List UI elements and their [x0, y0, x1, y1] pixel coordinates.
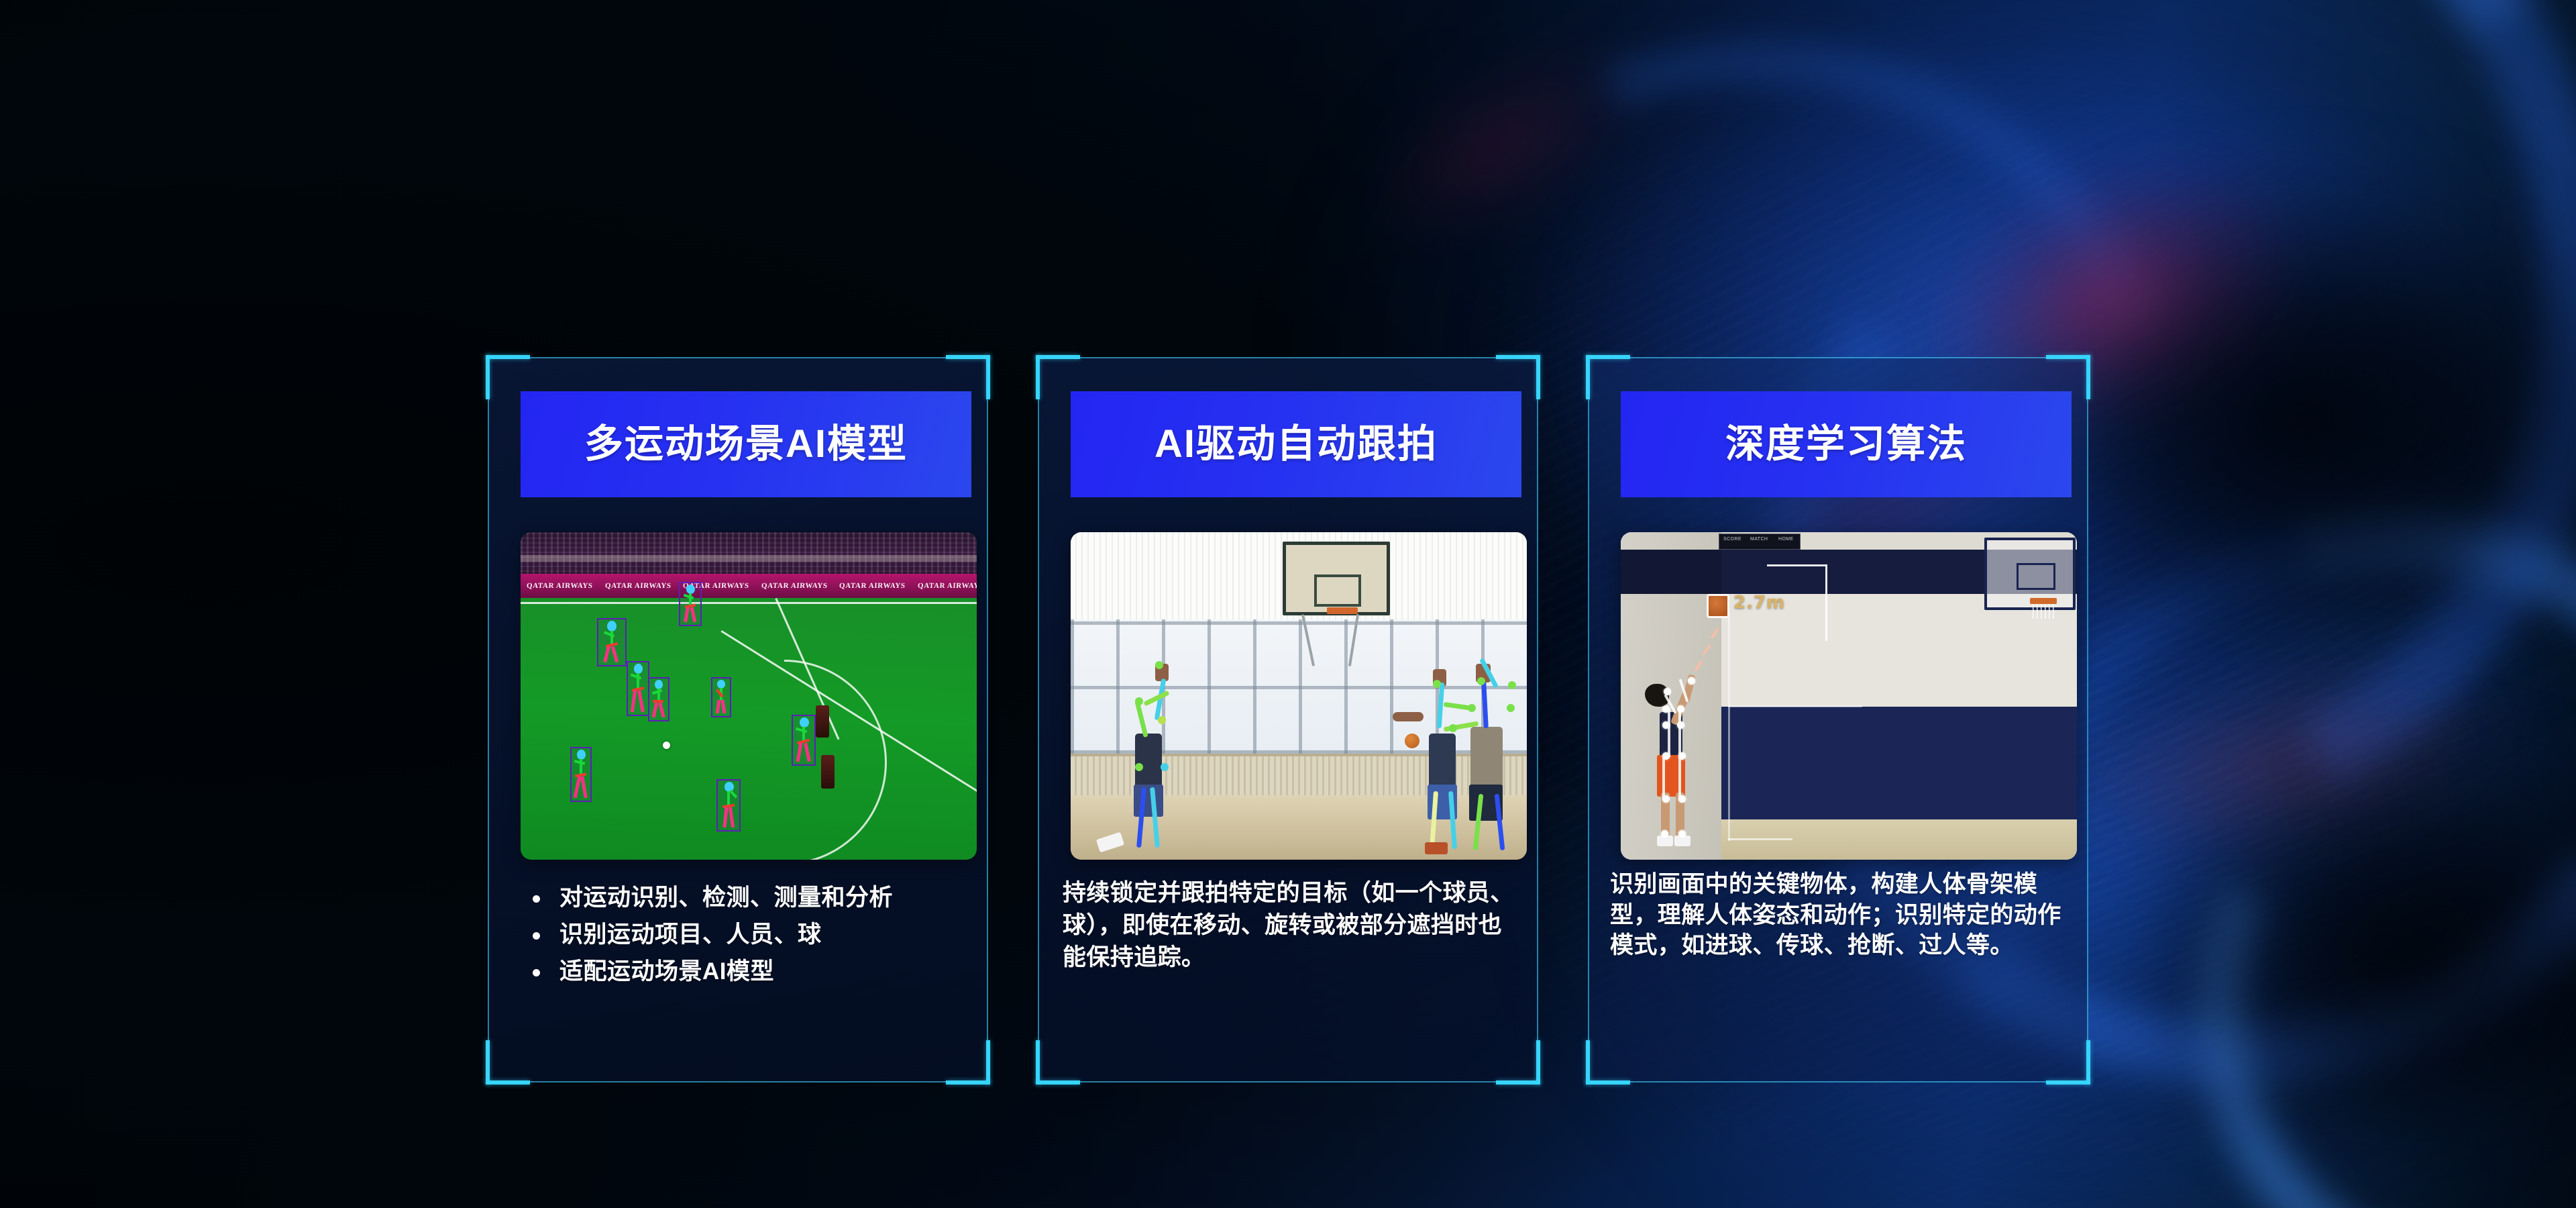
- card-3-corner-bottom-right-icon: [2046, 1040, 2090, 1085]
- feature-card-2[interactable]: AI驱动自动跟拍: [1033, 352, 1543, 1087]
- basketball: [1405, 734, 1419, 748]
- tracking-line-horizontal: [1767, 564, 1827, 566]
- court-navy-pad: [1721, 707, 2077, 819]
- player-bbox: [792, 715, 816, 766]
- player-bbox: [648, 677, 669, 721]
- card-1-edge-top: [488, 357, 987, 358]
- stadium-crowd: [521, 532, 977, 576]
- slide-root: 多运动场景AI模型 QATAR AIRWAYSQATAR AIRWAYSQATA…: [0, 0, 2576, 1208]
- scoreboard-label-home: HOME: [1778, 537, 1794, 542]
- card-2-corner-bottom-right-icon: [1496, 1040, 1540, 1085]
- pose-joint: [1508, 681, 1516, 689]
- ad-banner-text: QATAR AIRWAYS: [521, 582, 599, 590]
- keypoint: [1677, 705, 1684, 713]
- keypoint: [1688, 677, 1695, 685]
- player-shorts: [1134, 785, 1163, 817]
- card-2-title: AI驱动自动跟拍: [1155, 425, 1438, 464]
- pose-joint: [1155, 661, 1163, 669]
- keypoint: [1677, 721, 1684, 729]
- keypoint: [1678, 830, 1686, 838]
- card-3-paragraph: 识别画面中的关键物体，构建人体骨架模型，理解人体姿态和动作；识别特定的动作模式，…: [1610, 869, 2070, 961]
- player-torso: [1429, 734, 1456, 790]
- pose-joint: [1507, 704, 1515, 712]
- tracking-line-base: [1728, 838, 1792, 840]
- card-2-edge-right: [1537, 358, 1538, 1082]
- player-bbox: [570, 747, 592, 802]
- keypoint: [1664, 688, 1671, 695]
- tracking-line-floor: [1728, 705, 1862, 707]
- player-torso: [1135, 734, 1162, 790]
- pose-joint: [1135, 763, 1143, 771]
- pose-joint: [1161, 763, 1169, 771]
- card-2-corner-bottom-left-icon: [1036, 1040, 1080, 1085]
- court-pillar-navy-band: [1621, 550, 1721, 594]
- card-3-edge-left: [1588, 358, 1589, 1082]
- card-1-title-bar: 多运动场景AI模型: [521, 391, 971, 497]
- card-3-body: 识别画面中的关键物体，构建人体骨架模型，理解人体姿态和动作；识别特定的动作模式，…: [1610, 869, 2070, 961]
- keypoint: [1662, 752, 1670, 760]
- soccer-ball: [663, 742, 670, 749]
- player-torso: [1470, 727, 1503, 790]
- undetected-player: [821, 755, 835, 789]
- list-item: 识别运动项目、人员、球: [521, 919, 961, 950]
- basketball-hoop: [1327, 607, 1358, 614]
- card-3-title: 深度学习算法: [1725, 425, 1967, 464]
- undetected-player: [816, 705, 829, 738]
- scoreboard-label-score: SCORE: [1723, 537, 1741, 542]
- keypoint: [1661, 830, 1668, 838]
- scoreboard: SCORE MATCH HOME: [1719, 534, 1801, 550]
- card-1-edge-bottom: [488, 1081, 987, 1083]
- card-3-corner-bottom-left-icon: [1586, 1040, 1630, 1085]
- card-2-body: 持续锁定并跟拍特定的目标（如一个球员、球），即使在移动、旋转或被部分遮挡时也能保…: [1063, 877, 1516, 974]
- ad-banner-text: QATAR AIRWAYS: [755, 582, 833, 590]
- tracking-line-drop: [1728, 613, 1730, 841]
- card-2-edge-left: [1038, 358, 1039, 1082]
- pose-joint: [1449, 724, 1457, 732]
- court-net: [2033, 604, 2054, 619]
- feature-card-1[interactable]: 多运动场景AI模型 QATAR AIRWAYSQATAR AIRWAYSQATA…: [483, 352, 993, 1087]
- pose-joint: [1468, 704, 1476, 712]
- pose-joint: [1477, 677, 1485, 685]
- pose-joint: [1433, 680, 1441, 688]
- scoreboard-label-match: MATCH: [1750, 537, 1768, 542]
- card-1-corner-bottom-right-icon: [946, 1040, 990, 1085]
- card-1-title: 多运动场景AI模型: [584, 425, 908, 464]
- player-bbox: [597, 618, 627, 666]
- card-2-image: [1071, 532, 1527, 860]
- card-3-title-bar: 深度学习算法: [1621, 391, 2072, 497]
- card-3-edge-bottom: [1589, 1081, 2088, 1083]
- card-2-edge-bottom: [1038, 1081, 1538, 1083]
- player-bbox: [711, 677, 731, 717]
- ad-banner-text: QATAR AIRWAYS: [598, 582, 677, 590]
- card-1-body: 对运动识别、检测、测量和分析 识别运动项目、人员、球 适配运动场景AI模型: [521, 883, 961, 994]
- card-1-edge-right: [987, 358, 988, 1082]
- card-1-edge-left: [488, 358, 489, 1082]
- card-1-bullet-list: 对运动识别、检测、测量和分析 识别运动项目、人员、球 适配运动场景AI模型: [521, 883, 961, 988]
- player-shoe: [1425, 842, 1448, 854]
- ad-banner-text: QATAR AIRWAYS: [833, 582, 912, 590]
- card-3-image: SCORE MATCH HOME 2.7m: [1621, 532, 2077, 860]
- skeleton-line: [1662, 756, 1665, 799]
- card-3-edge-top: [1589, 357, 2088, 358]
- card-1-image: QATAR AIRWAYSQATAR AIRWAYSQATAR AIRWAYSQ…: [521, 532, 977, 860]
- list-item: 适配运动场景AI模型: [521, 956, 961, 987]
- player-bbox: [716, 779, 741, 832]
- pose-joint: [1158, 716, 1166, 724]
- list-item: 对运动识别、检测、测量和分析: [521, 883, 961, 913]
- pitch-line-horizontal: [521, 602, 977, 604]
- feature-card-3[interactable]: 深度学习算法 SCORE MATCH HOME: [1583, 352, 2093, 1087]
- keypoint: [1662, 721, 1670, 729]
- court-rim: [2030, 598, 2057, 604]
- keypoint: [1662, 795, 1670, 803]
- keypoint: [1678, 795, 1686, 803]
- height-measurement-label: 2.7m: [1733, 593, 1785, 613]
- ad-banner-text: QATAR AIRWAYS: [912, 582, 977, 590]
- card-2-edge-top: [1038, 357, 1538, 358]
- ball-detection-box: [1707, 594, 1729, 618]
- keypoint: [1662, 705, 1670, 713]
- qatar-airways-ad-banner: QATAR AIRWAYSQATAR AIRWAYSQATAR AIRWAYSQ…: [521, 574, 977, 598]
- card-1-corner-bottom-left-icon: [486, 1040, 530, 1085]
- feature-card-group: 多运动场景AI模型 QATAR AIRWAYSQATAR AIRWAYSQATA…: [483, 352, 2093, 1087]
- tracking-line-vertical: [1825, 564, 1827, 641]
- keypoint: [1678, 752, 1686, 760]
- card-3-edge-right: [2087, 358, 2088, 1082]
- card-2-title-bar: AI驱动自动跟拍: [1071, 391, 1521, 497]
- basketball-backboard: [1283, 542, 1390, 615]
- player-arm: [1393, 712, 1424, 721]
- player-bbox: [679, 582, 702, 626]
- player-bbox: [627, 661, 649, 716]
- skeleton-line: [1678, 708, 1681, 758]
- skeleton-line: [1678, 756, 1681, 799]
- pose-joint: [1135, 697, 1143, 705]
- card-2-paragraph: 持续锁定并跟拍特定的目标（如一个球员、球），即使在移动、旋转或被部分遮挡时也能保…: [1063, 877, 1516, 974]
- skeleton-line: [1668, 708, 1670, 758]
